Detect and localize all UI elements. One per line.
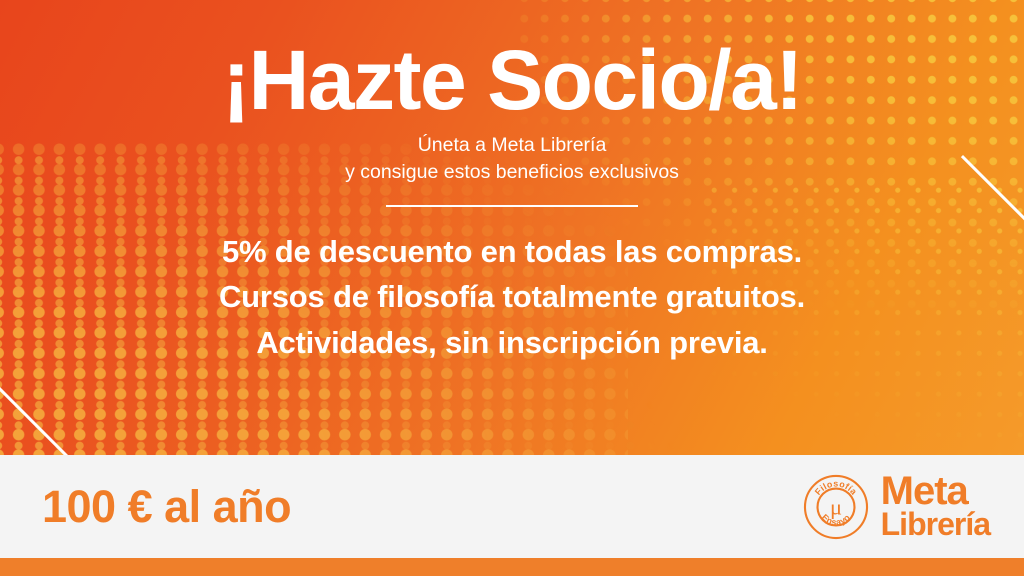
benefits-list: 5% de descuento en todas las compras. Cu… bbox=[0, 229, 1024, 366]
membership-promo-banner: ¡Hazte Socio/a! Úneta a Meta Librería y … bbox=[0, 0, 1024, 576]
subtitle-line-2: y consigue estos beneficios exclusivos bbox=[0, 159, 1024, 186]
brand-wordmark: Meta Librería bbox=[881, 473, 990, 540]
benefit-item: 5% de descuento en todas las compras. bbox=[0, 229, 1024, 275]
footer-bar: 100 € al año Filosofía Ensayo μ Meta bbox=[0, 455, 1024, 558]
hero-content: ¡Hazte Socio/a! Úneta a Meta Librería y … bbox=[0, 0, 1024, 455]
subtitle-line-1: Úneta a Meta Librería bbox=[0, 132, 1024, 159]
benefit-item: Cursos de filosofía totalmente gratuitos… bbox=[0, 274, 1024, 320]
brand-logo: Filosofía Ensayo μ Meta Librería bbox=[803, 473, 1024, 540]
benefit-item: Actividades, sin inscripción previa. bbox=[0, 320, 1024, 366]
wordmark-line-2: Librería bbox=[881, 510, 990, 540]
wordmark-line-1: Meta bbox=[881, 473, 990, 510]
filosofia-ensayo-seal-icon: Filosofía Ensayo μ bbox=[803, 474, 869, 540]
subtitle: Úneta a Meta Librería y consigue estos b… bbox=[0, 132, 1024, 186]
hero-panel: ¡Hazte Socio/a! Úneta a Meta Librería y … bbox=[0, 0, 1024, 455]
footer-accent-strip bbox=[0, 558, 1024, 576]
price-label: 100 € al año bbox=[0, 481, 291, 533]
divider bbox=[386, 205, 638, 207]
page-title: ¡Hazte Socio/a! bbox=[0, 0, 1024, 122]
mu-glyph: μ bbox=[830, 494, 842, 519]
